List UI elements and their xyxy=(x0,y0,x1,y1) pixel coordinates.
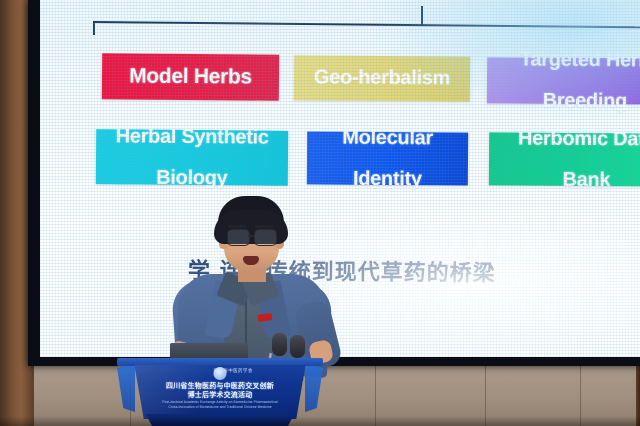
podium-title-line2: 博士后学术交流活动 xyxy=(117,390,323,400)
speaker-glasses-lens-right xyxy=(254,229,277,246)
microphone-right-head xyxy=(290,335,305,358)
slide-bracket-tick-left xyxy=(93,21,95,35)
podium-top-edge xyxy=(117,358,323,366)
slide-box-targeted-herb-breeding: Targeted Herb Breeding xyxy=(487,57,640,104)
slide-box-geo-herbalism: Geo-herbalism xyxy=(294,55,470,101)
podium-subtitle-line2: Cross-innovation of Biomedicine and Trad… xyxy=(117,405,323,409)
slide-box-targeted-herb-breeding-label: Targeted Herb Breeding xyxy=(508,50,640,112)
slide-box-model-herbs-label: Model Herbs xyxy=(123,66,258,89)
slide-box-geo-herbalism-label: Geo-herbalism xyxy=(308,68,456,89)
speaker-glasses-bridge xyxy=(248,235,254,237)
slide-box-herbal-synthetic-biology: Herbal Synthetic Biology xyxy=(96,129,288,186)
slide-box-herbomic-data-bank-label: Herbomic Data Bank xyxy=(506,128,640,190)
slide-box-model-herbs: Model Herbs xyxy=(102,53,279,101)
slide-box-herbal-synthetic-biology-label: Herbal Synthetic Biology xyxy=(103,126,281,189)
podium-emblem-text: 四川省中医药学会 xyxy=(214,368,253,374)
speaker-mouth xyxy=(243,256,259,265)
slide-box-molecular-identity-label: Molecular Identity xyxy=(330,128,445,190)
microphone-left-head xyxy=(272,333,287,356)
podium-subtitle-line1: Post-doctoral Academic Exchange Activity… xyxy=(117,400,323,404)
speaker-eyebrow-right xyxy=(255,225,273,228)
slide-bracket-tick-middle xyxy=(421,6,423,26)
speaker-eyebrow-left xyxy=(228,225,246,228)
floor-shadow xyxy=(0,416,640,426)
slide-box-herbomic-data-bank: Herbomic Data Bank xyxy=(489,132,640,186)
speaker-glasses-lens-left xyxy=(227,229,250,246)
slide-box-molecular-identity: Molecular Identity xyxy=(307,131,468,185)
led-screen: Model Herbs Geo-herbalism Targeted Herb … xyxy=(40,0,640,357)
conference-photo-scene: Model Herbs Geo-herbalism Targeted Herb … xyxy=(0,0,640,426)
slide-bracket-line xyxy=(93,21,640,29)
